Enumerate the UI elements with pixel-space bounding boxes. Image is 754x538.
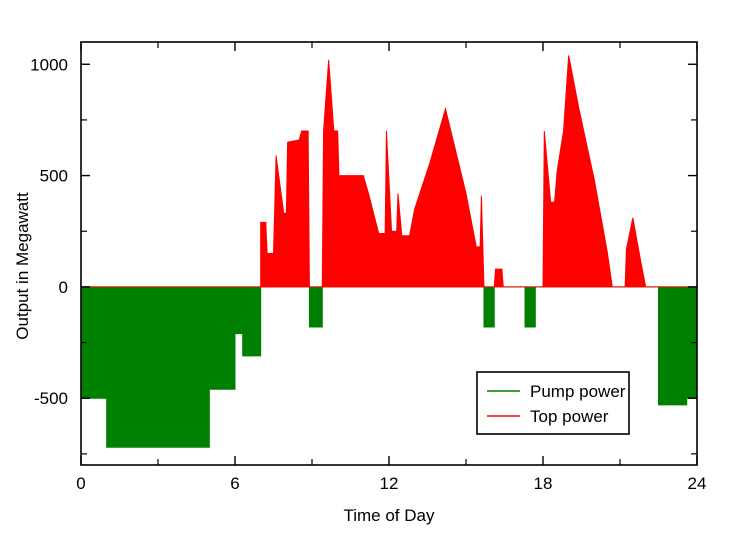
y-tick-label: -500 — [34, 389, 68, 408]
x-tick-label: 12 — [380, 474, 399, 493]
y-tick-label: 1000 — [30, 55, 68, 74]
legend-layer: Pump powerTop power — [477, 372, 629, 434]
x-tick-label: 6 — [230, 474, 239, 493]
legend-label-0: Pump power — [530, 382, 626, 401]
x-axis-label: Time of Day — [343, 506, 435, 525]
x-tick-label: 0 — [76, 474, 85, 493]
chart-figure: 0612182410005000-500 Pump powerTop power… — [0, 0, 754, 538]
x-tick-label: 18 — [534, 474, 553, 493]
legend-label-1: Top power — [530, 407, 609, 426]
y-tick-label: 500 — [40, 167, 68, 186]
x-tick-label: 24 — [688, 474, 707, 493]
y-axis-label: Output in Megawatt — [13, 192, 32, 340]
y-tick-label: 0 — [59, 278, 68, 297]
plot-area: 0612182410005000-500 Pump powerTop power… — [0, 0, 754, 538]
